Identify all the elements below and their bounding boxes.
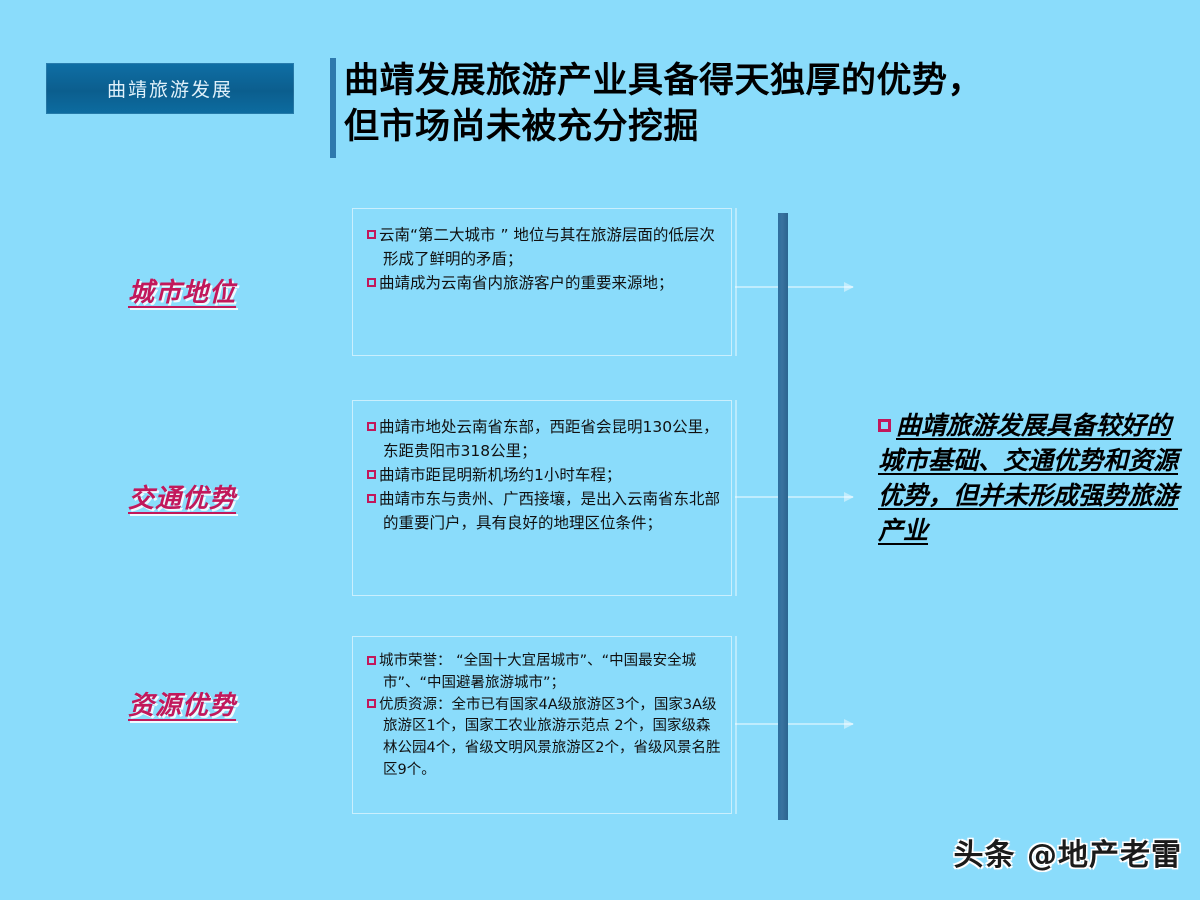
slide-canvas: 曲靖旅游发展 曲靖发展旅游产业具备得天独厚的优势， 但市场尚未被充分挖掘 城市地…	[0, 0, 1200, 900]
bullet-item: 城市荣誉： “全国十大宜居城市”、“中国最安全城市”、“中国避暑旅游城市”；	[367, 651, 721, 695]
square-bullet-icon	[367, 699, 376, 708]
square-bullet-icon	[367, 656, 376, 665]
content-box-city-status: 云南“第二大城市 ” 地位与其在旅游层面的低层次形成了鲜明的矛盾； 曲靖成为云南…	[352, 208, 732, 356]
square-bullet-icon	[878, 419, 891, 432]
bullet-item: 云南“第二大城市 ” 地位与其在旅游层面的低层次形成了鲜明的矛盾；	[367, 223, 721, 271]
bullet-item: 曲靖市距昆明新机场约1小时车程；	[367, 463, 721, 487]
square-bullet-icon	[367, 422, 376, 431]
bullet-item: 曲靖市地处云南省东部，西距省会昆明130公里，东距贵阳市318公里；	[367, 415, 721, 463]
bullet-text: 曲靖市距昆明新机场约1小时车程；	[379, 466, 621, 484]
vertical-spine-bar	[778, 213, 788, 820]
bullet-item: 曲靖市东与贵州、广西接壤，是出入云南省东北部的重要门户，具有良好的地理区位条件；	[367, 487, 721, 535]
arrow-icon-2	[735, 496, 853, 498]
conclusion-text: 曲靖旅游发展具备较好的城市基础、交通优势和资源优势，但并未形成强势旅游产业	[878, 411, 1178, 545]
category-label-transport-advantage: 交通优势	[128, 478, 328, 515]
content-box-transport-advantage: 曲靖市地处云南省东部，西距省会昆明130公里，东距贵阳市318公里； 曲靖市距昆…	[352, 400, 732, 596]
category-label-resource-advantage: 资源优势	[128, 685, 328, 722]
connector-line-2	[735, 400, 737, 596]
header-tab: 曲靖旅游发展	[46, 63, 294, 114]
watermark: 头条 @地产老雷	[954, 830, 1182, 874]
bullet-text: 曲靖成为云南省内旅游客户的重要来源地；	[379, 274, 674, 292]
square-bullet-icon	[367, 494, 376, 503]
conclusion-statement: 曲靖旅游发展具备较好的城市基础、交通优势和资源优势，但并未形成强势旅游产业	[878, 408, 1182, 548]
bullet-text: 城市荣誉： “全国十大宜居城市”、“中国最安全城市”、“中国避暑旅游城市”；	[379, 653, 696, 691]
title-accent-bar	[330, 58, 336, 158]
arrow-icon-1	[735, 286, 853, 288]
arrow-icon-3	[735, 723, 853, 725]
category-label-city-status: 城市地位	[128, 272, 328, 309]
bullet-item: 曲靖成为云南省内旅游客户的重要来源地；	[367, 271, 721, 295]
page-title: 曲靖发展旅游产业具备得天独厚的优势， 但市场尚未被充分挖掘	[344, 58, 1184, 150]
bullet-text: 优质资源：全市已有国家4A级旅游区3个，国家3A级旅游区1个，国家工农业旅游示范…	[379, 697, 720, 778]
header-tab-label: 曲靖旅游发展	[107, 75, 233, 102]
content-box-resource-advantage: 城市荣誉： “全国十大宜居城市”、“中国最安全城市”、“中国避暑旅游城市”； 优…	[352, 636, 732, 814]
square-bullet-icon	[367, 470, 376, 479]
bullet-text: 曲靖市地处云南省东部，西距省会昆明130公里，东距贵阳市318公里；	[379, 418, 719, 460]
bullet-item: 优质资源：全市已有国家4A级旅游区3个，国家3A级旅游区1个，国家工农业旅游示范…	[367, 695, 721, 782]
square-bullet-icon	[367, 230, 376, 239]
connector-line-1	[735, 208, 737, 356]
bullet-text: 曲靖市东与贵州、广西接壤，是出入云南省东北部的重要门户，具有良好的地理区位条件；	[379, 490, 720, 532]
connector-line-3	[735, 636, 737, 814]
bullet-text: 云南“第二大城市 ” 地位与其在旅游层面的低层次形成了鲜明的矛盾；	[379, 226, 715, 268]
square-bullet-icon	[367, 278, 376, 287]
page-title-line-2: 但市场尚未被充分挖掘	[344, 104, 1184, 150]
page-title-line-1: 曲靖发展旅游产业具备得天独厚的优势，	[344, 58, 1184, 104]
